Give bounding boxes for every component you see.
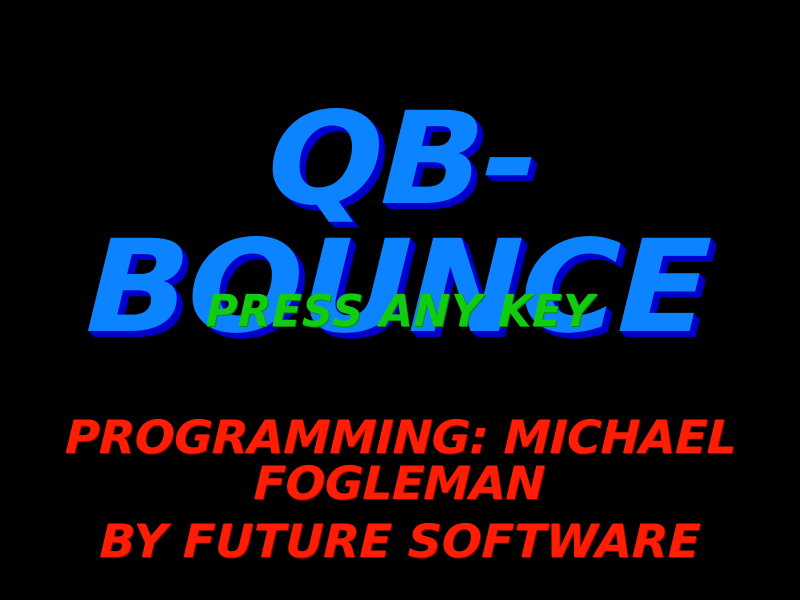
credit-line-programming: PROGRAMMING: MICHAEL FOGLEMAN xyxy=(0,414,800,506)
game-title-screen[interactable]: QB-BOUNCE PRESS ANY KEY PROGRAMMING: MIC… xyxy=(0,0,800,600)
press-any-key-text: PRESS ANY KEY xyxy=(205,290,595,334)
credit-line-publisher: BY FUTURE SOFTWARE xyxy=(0,518,800,564)
credits-block: PROGRAMMING: MICHAEL FOGLEMAN BY FUTURE … xyxy=(0,414,800,564)
press-any-key-prompt[interactable]: PRESS ANY KEY xyxy=(0,290,800,334)
